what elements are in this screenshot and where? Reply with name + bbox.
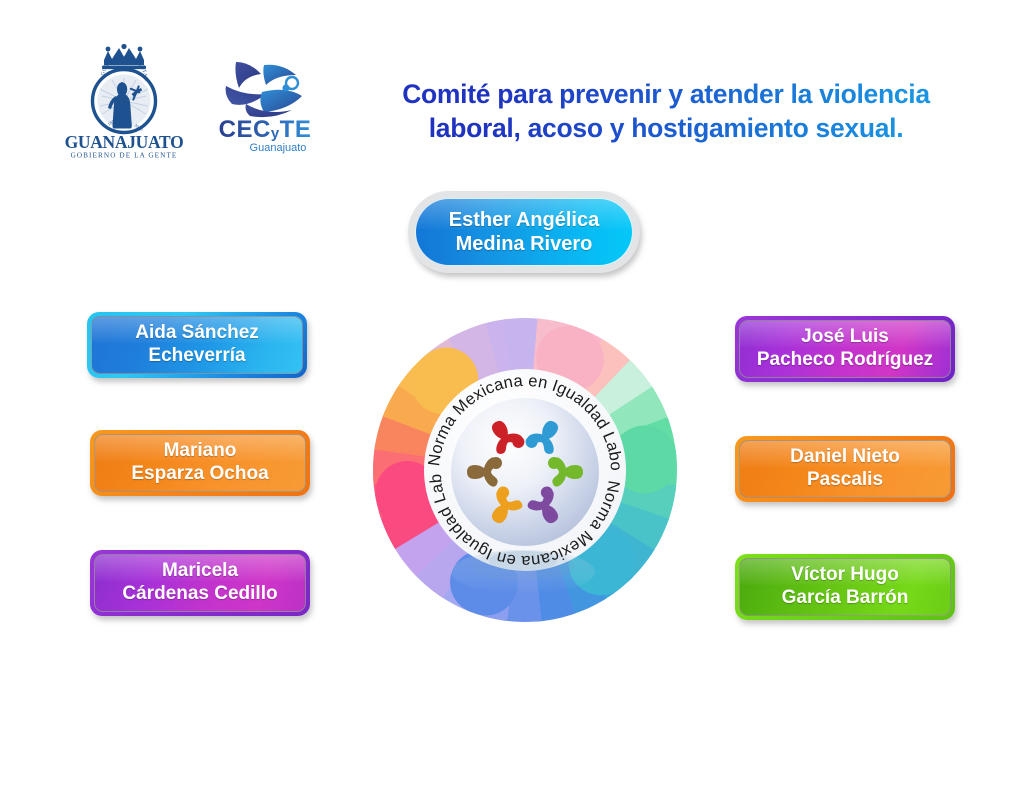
member-card-inner: Víctor Hugo García Barrón xyxy=(739,558,951,616)
member-card-mariano-esparza-ochoa[interactable]: Mariano Esparza Ochoa xyxy=(90,430,310,496)
member-card-jose-luis-pacheco-rodriguez[interactable]: José Luis Pacheco Rodríguez xyxy=(735,316,955,382)
member-card-label: Víctor Hugo García Barrón xyxy=(778,564,913,610)
guanajuato-tagline: GOBIERNO DE LA GENTE xyxy=(71,152,178,160)
member-name-line-1: Daniel Nieto xyxy=(790,446,900,467)
member-name-line-1: Maricela xyxy=(162,560,238,581)
member-card-label: José Luis Pacheco Rodríguez xyxy=(753,326,937,372)
member-name-line-2: Cárdenas Cedillo xyxy=(122,583,277,604)
member-name-line-2: Esparza Ochoa xyxy=(131,463,268,484)
member-name-line-1: Mariano xyxy=(164,440,237,461)
member-card-aida-sanchez-echeverria[interactable]: Aida Sánchez Echeverría xyxy=(87,312,307,378)
member-card-victor-hugo-garcia-barron[interactable]: Víctor Hugo García Barrón xyxy=(735,554,955,620)
member-card-inner: Aida Sánchez Echeverría xyxy=(91,316,303,374)
member-card-inner: Esther Angélica Medina Rivero xyxy=(415,198,633,266)
member-card-esther-angelica-medina-rivero[interactable]: Esther Angélica Medina Rivero xyxy=(408,191,640,273)
member-name-line-1: Esther Angélica xyxy=(449,209,599,231)
member-card-label: Aida Sánchez Echeverría xyxy=(131,322,263,368)
member-card-label: Maricela Cárdenas Cedillo xyxy=(118,560,281,606)
member-card-label: Mariano Esparza Ochoa xyxy=(127,440,272,486)
nmx-igualdad-laboral-logo: Norma Mexicana en Igualdad Laboral y No … xyxy=(355,300,695,644)
member-card-label: Daniel Nieto Pascalis xyxy=(786,446,904,492)
member-card-inner: Daniel Nieto Pascalis xyxy=(739,440,951,498)
guanajuato-wordmark: GUANAJUATO xyxy=(65,132,184,152)
member-card-inner: Mariano Esparza Ochoa xyxy=(94,434,306,492)
cecyte-wordmark-te: TE xyxy=(280,116,312,143)
member-name-line-1: Víctor Hugo xyxy=(791,564,899,585)
cecyte-logo: CECyTE Guanajuato xyxy=(202,52,328,156)
member-card-inner: Maricela Cárdenas Cedillo xyxy=(94,554,306,612)
member-name-line-1: José Luis xyxy=(801,326,889,347)
member-card-inner: José Luis Pacheco Rodríguez xyxy=(739,320,951,378)
member-name-line-2: Medina Rivero xyxy=(456,233,593,255)
member-card-maricela-cardenas-cedillo[interactable]: Maricela Cárdenas Cedillo xyxy=(90,550,310,616)
page-title-line-1: Comité para prevenir y atender la violen… xyxy=(356,78,976,112)
member-card-label: Esther Angélica Medina Rivero xyxy=(445,208,603,256)
cecyte-wordmark-y: y xyxy=(271,125,280,142)
cecyte-mark xyxy=(226,62,302,117)
cecyte-wordmark-cec: CEC xyxy=(219,116,271,143)
svg-text:CECyTE: CECyTE xyxy=(219,116,312,143)
member-name-line-1: Aida Sánchez xyxy=(135,322,259,343)
member-name-line-2: Pascalis xyxy=(807,469,883,490)
guanajuato-government-logo: GOBIERNO DEL ESTADO DE GUANAJUATO 1810 2… xyxy=(64,44,184,160)
member-card-daniel-nieto-pascalis[interactable]: Daniel Nieto Pascalis xyxy=(735,436,955,502)
page-title-line-2: laboral, acoso y hostigamiento sexual. xyxy=(356,112,976,146)
cecyte-subtitle: Guanajuato xyxy=(250,142,307,154)
page-title: Comité para prevenir y atender la violen… xyxy=(356,78,976,146)
member-name-line-2: Pacheco Rodríguez xyxy=(757,349,933,370)
member-name-line-2: Echeverría xyxy=(148,345,245,366)
member-name-line-2: García Barrón xyxy=(782,587,909,608)
